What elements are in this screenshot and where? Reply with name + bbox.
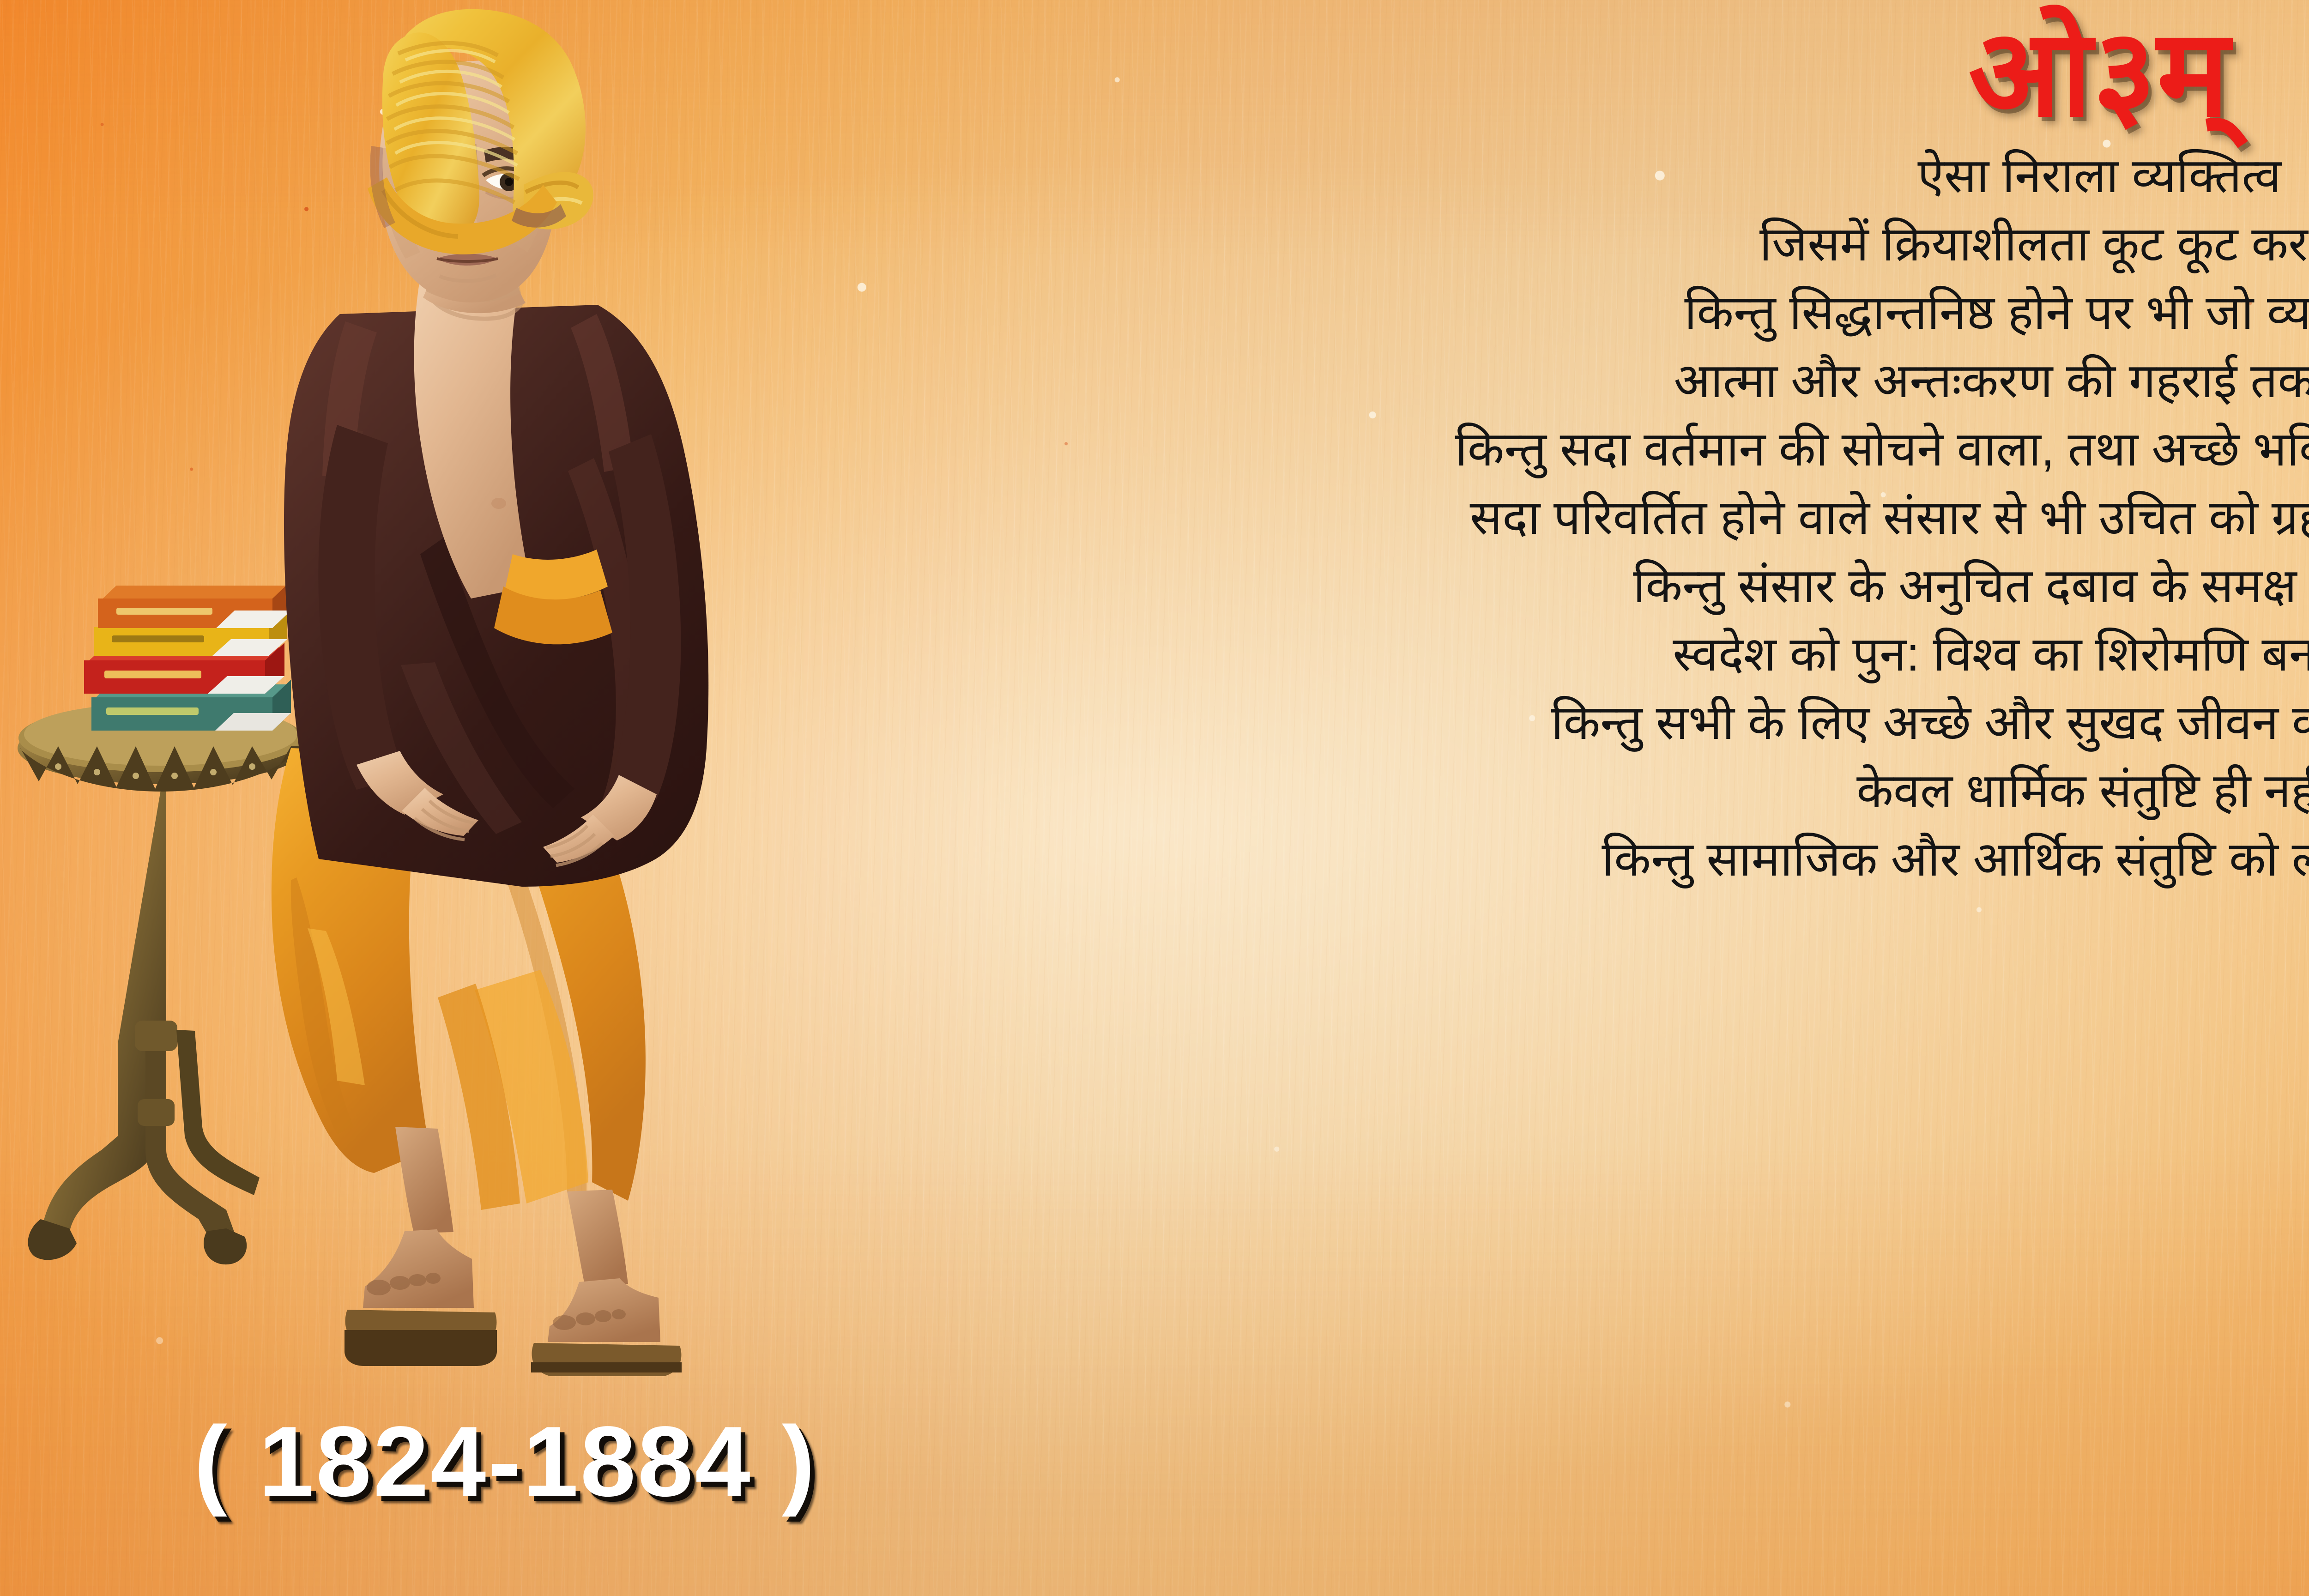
poster-canvas: ओ३म् ऐसा निराला व्यक्तित्व जिसमें क्रिया…: [0, 0, 2309, 1596]
book-stack: [84, 581, 291, 731]
verse-line: केवल धार्मिक संतुष्टि ही नहीं,: [1856, 767, 2309, 815]
verse-line: किन्तु सभी के लिए अच्छे और सुखद जीवन का …: [1551, 699, 2309, 747]
om-symbol-heading: ओ३म्: [1969, 13, 2230, 136]
verse-line: आत्मा और अन्तःकरण की गहराई तक पहुंचा हुआ…: [1674, 357, 2309, 405]
verse-line: किन्तु संसार के अनुचित दबाव के समक्ष न झ…: [1633, 562, 2309, 610]
verse-line: किन्तु सदा वर्तमान की सोचने वाला, तथा अच…: [1455, 425, 2309, 473]
verse-block: ऐसा निराला व्यक्तित्व जिसमें क्रियाशीलता…: [1007, 152, 2309, 883]
lifespan-years-caption: ( 1824-1884 ): [194, 1404, 817, 1519]
verse-line: स्वदेश को पुन: विश्व का शिरोमणि बनाने का…: [1673, 630, 2309, 678]
verse-line: ऐसा निराला व्यक्तित्व: [1917, 152, 2281, 200]
verse-line: किन्तु सामाजिक और आर्थिक संतुष्टि को लक्…: [1602, 835, 2309, 883]
portrait-illustration: [14, 9, 984, 1376]
verse-line: जिसमें क्रियाशीलता कूट कूट कर भरी है,: [1759, 220, 2309, 268]
seated-figure: [272, 9, 708, 1376]
text-column: ओ३म् ऐसा निराला व्यक्तित्व जिसमें क्रिया…: [1007, 0, 2309, 1596]
verse-line: किन्तु सिद्धान्तनिष्ठ होने पर भी जो व्या…: [1684, 289, 2309, 337]
pedestal-table: [18, 703, 304, 1264]
verse-line: सदा परिवर्तित होने वाले संसार से भी उचित…: [1470, 494, 2309, 542]
